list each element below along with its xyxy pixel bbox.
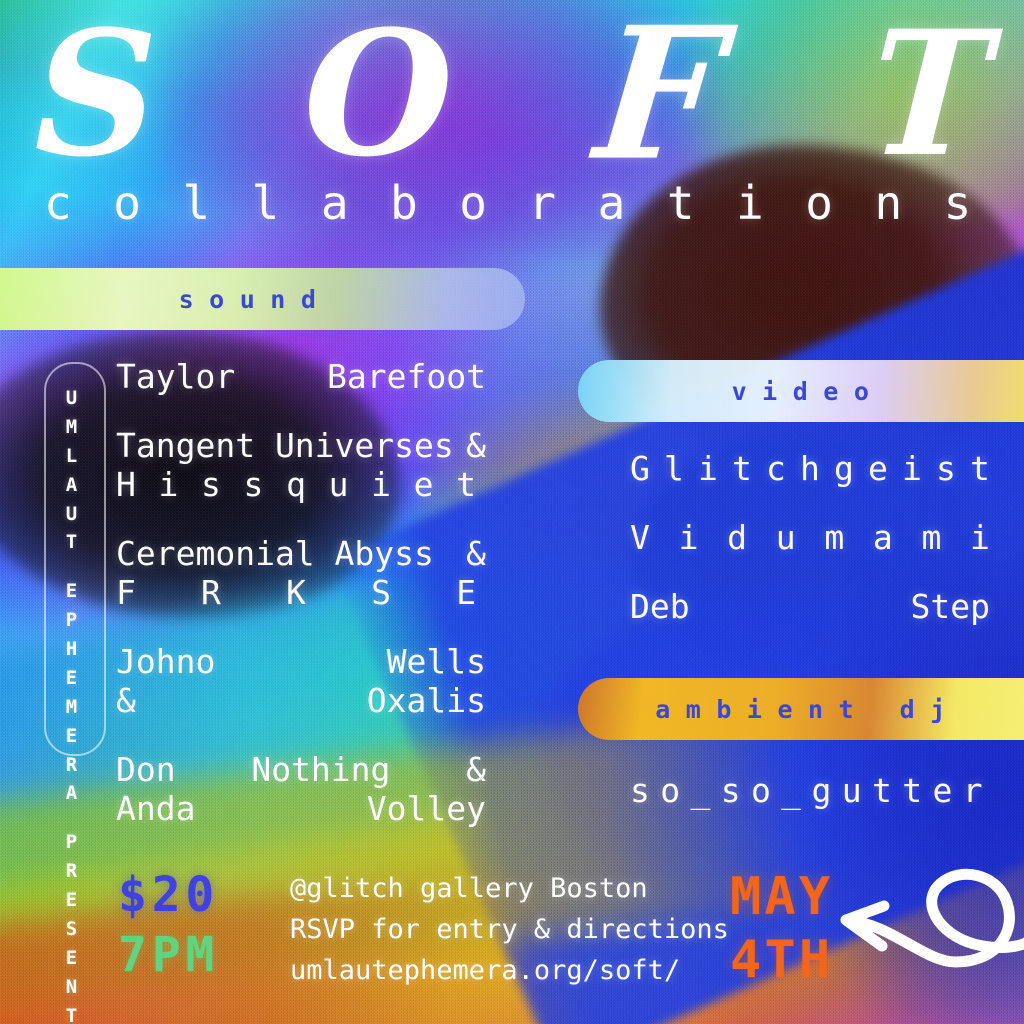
artist-name-letter: s bbox=[244, 466, 274, 505]
artist-line: Glitchgeist bbox=[630, 450, 990, 489]
artist-name-right: & bbox=[466, 751, 486, 790]
artist-name-letter: t bbox=[872, 772, 899, 811]
presenter-letter: N bbox=[66, 973, 80, 1002]
artist-name-letter: t bbox=[456, 466, 486, 505]
artist-name-mid: Nothing bbox=[251, 751, 390, 790]
artist-name-letter: m bbox=[824, 519, 844, 558]
presenter-strip: UMLAUTEPHEMERAPRESENTS bbox=[44, 362, 102, 974]
presenter-letter: A bbox=[66, 779, 80, 808]
artist-name-letter: e bbox=[414, 466, 444, 505]
presenter-letter: T bbox=[66, 1002, 80, 1024]
subtitle-letter: c bbox=[44, 176, 88, 230]
artist-row: TaylorBarefoot bbox=[116, 358, 486, 397]
presenter-letter: E bbox=[66, 886, 80, 915]
presenter-letter-gap bbox=[66, 808, 80, 828]
presenter-letter: P bbox=[66, 828, 80, 857]
artist-name-letter: i bbox=[159, 466, 189, 505]
artist-name-letter: h bbox=[800, 450, 820, 489]
artist-name-letter: _ bbox=[781, 772, 808, 811]
presenter-letter: E bbox=[66, 577, 80, 606]
presenter-letter: T bbox=[66, 528, 80, 557]
artist-name-letter: l bbox=[664, 450, 684, 489]
presenter-letter: E bbox=[66, 722, 80, 751]
artist-name-letter: g bbox=[812, 772, 839, 811]
title-letter-s: S bbox=[34, 8, 158, 180]
subtitle-letter: b bbox=[390, 176, 434, 230]
artist-name-letter: a bbox=[873, 519, 893, 558]
event-poster: S O F T collaborations sound video ambie… bbox=[0, 0, 1024, 1024]
artist-name-right: Wells bbox=[387, 643, 486, 682]
artist-name-letter: i bbox=[679, 519, 699, 558]
artist-name-letter: m bbox=[921, 519, 941, 558]
subtitle-letter: o bbox=[805, 176, 849, 230]
artist-name-letter: o bbox=[660, 772, 687, 811]
presenter-letter: U bbox=[66, 384, 80, 413]
artist-line: DebStep bbox=[630, 588, 990, 627]
subtitle-letter: o bbox=[459, 176, 503, 230]
section-pill-ambient-dj: ambient dj bbox=[578, 678, 1024, 740]
subtitle-letter: t bbox=[667, 176, 711, 230]
artist-name-letter: i bbox=[902, 450, 922, 489]
price-and-time: $20 7PM bbox=[118, 866, 219, 985]
presenter-letter: E bbox=[66, 664, 80, 693]
artist-name-right: & bbox=[466, 535, 486, 574]
artist-name-letter: o bbox=[751, 772, 778, 811]
artist-name-letter: E bbox=[456, 574, 486, 613]
artist-name-letter: s bbox=[936, 450, 956, 489]
presenter-letter: M bbox=[66, 413, 80, 442]
artist-line: DonNothing& bbox=[116, 751, 486, 790]
artist-name-letter: u bbox=[842, 772, 869, 811]
artist-name-right: Oxalis bbox=[367, 682, 486, 721]
presenter-text: UMLAUTEPHEMERAPRESENTS bbox=[66, 362, 80, 1024]
artist-name-letter: e bbox=[868, 450, 888, 489]
artist-name-letter: s bbox=[630, 772, 657, 811]
artist-name-left: Johno bbox=[116, 643, 215, 682]
subtitle-letter: l bbox=[252, 176, 296, 230]
artist-row: Tangent Universes&Hissquiet bbox=[116, 427, 486, 505]
presenter-letter: E bbox=[66, 944, 80, 973]
artist-line: Tangent Universes& bbox=[116, 427, 486, 466]
artist-row: DebStep bbox=[630, 588, 990, 627]
artist-name-right: Step bbox=[911, 588, 990, 627]
artist-name-left: & bbox=[116, 682, 136, 721]
sound-artist-list: TaylorBarefootTangent Universes&Hissquie… bbox=[116, 358, 486, 858]
artist-name-letter: t bbox=[970, 450, 990, 489]
presenter-letter: S bbox=[66, 915, 80, 944]
artist-line: Vidumami bbox=[630, 519, 990, 558]
artist-row: so_so_gutter bbox=[630, 772, 990, 811]
artist-name-right: & bbox=[466, 427, 486, 466]
artist-name-letter: i bbox=[970, 519, 990, 558]
section-pill-ambient-dj-label: ambient dj bbox=[578, 695, 1024, 724]
event-date-month: MAY bbox=[730, 866, 833, 929]
artist-row: Ceremonial Abyss&FRKSE bbox=[116, 535, 486, 613]
artist-line: TaylorBarefoot bbox=[116, 358, 486, 397]
artist-name-right: Volley bbox=[367, 790, 486, 829]
video-artist-list: GlitchgeistVidumamiDebStep bbox=[630, 450, 990, 657]
subtitle-letter: n bbox=[874, 176, 918, 230]
artist-name-letter: S bbox=[371, 574, 401, 613]
poster-title: S O F T bbox=[34, 8, 994, 180]
artist-name-letter: i bbox=[698, 450, 718, 489]
section-pill-sound: sound bbox=[0, 268, 525, 330]
artist-name-letter: H bbox=[116, 466, 146, 505]
presenter-letter-gap bbox=[66, 557, 80, 577]
artist-row: JohnoWells&Oxalis bbox=[116, 643, 486, 721]
venue-info: @glitch gallery Boston RSVP for entry & … bbox=[290, 868, 729, 991]
artist-row: Vidumami bbox=[630, 519, 990, 558]
artist-name-left: Tangent Universes bbox=[116, 427, 454, 466]
title-letter-f: F bbox=[589, 3, 730, 185]
artist-name-letter: R bbox=[201, 574, 231, 613]
artist-name-letter: V bbox=[630, 519, 650, 558]
artist-name-letter: u bbox=[776, 519, 796, 558]
presenter-letter: L bbox=[66, 442, 80, 471]
venue-name: @glitch gallery Boston bbox=[290, 868, 729, 909]
artist-name-left: Ceremonial Abyss bbox=[116, 535, 434, 574]
poster-subtitle: collaborations bbox=[44, 176, 988, 230]
section-pill-sound-label: sound bbox=[0, 285, 525, 314]
artist-name-letter: _ bbox=[691, 772, 718, 811]
artist-name-letter: e bbox=[933, 772, 960, 811]
presenter-letter: H bbox=[66, 635, 80, 664]
artist-name-letter: g bbox=[834, 450, 854, 489]
artist-name-letter: d bbox=[727, 519, 747, 558]
ambient-dj-artist-list: so_so_gutter bbox=[630, 772, 990, 841]
artist-line: Hissquiet bbox=[116, 466, 486, 505]
presenter-letter: M bbox=[66, 693, 80, 722]
presenter-letter: R bbox=[66, 857, 80, 886]
event-date: MAY 4TH bbox=[730, 866, 833, 993]
title-letter-t: T bbox=[865, 8, 995, 180]
artist-name-left: Deb bbox=[630, 588, 690, 627]
artist-name-left: Don bbox=[116, 751, 176, 790]
artist-name-letter: s bbox=[201, 466, 231, 505]
subtitle-letter: r bbox=[528, 176, 572, 230]
ticket-price: $20 bbox=[118, 866, 219, 926]
looping-arrow-icon bbox=[832, 858, 1024, 1008]
section-pill-video: video bbox=[578, 360, 1024, 422]
artist-name-left: Anda bbox=[116, 790, 195, 829]
event-url[interactable]: umlautephemera.org/soft/ bbox=[290, 950, 729, 991]
artist-name-letter: t bbox=[732, 450, 752, 489]
subtitle-letter: i bbox=[736, 176, 780, 230]
start-time: 7PM bbox=[118, 926, 219, 986]
artist-name-letter: i bbox=[371, 466, 401, 505]
presenter-letter: A bbox=[66, 471, 80, 500]
artist-name-letter: r bbox=[963, 772, 990, 811]
subtitle-letter: l bbox=[182, 176, 226, 230]
presenter-letter: R bbox=[66, 751, 80, 780]
section-pill-video-label: video bbox=[578, 377, 1024, 406]
subtitle-letter: a bbox=[321, 176, 365, 230]
artist-name-letter: u bbox=[329, 466, 359, 505]
artist-line: &Oxalis bbox=[116, 682, 486, 721]
artist-name-letter: G bbox=[630, 450, 650, 489]
artist-line: Ceremonial Abyss& bbox=[116, 535, 486, 574]
artist-line: so_so_gutter bbox=[630, 772, 990, 811]
artist-row: DonNothing&AndaVolley bbox=[116, 751, 486, 829]
artist-name-letter: F bbox=[116, 574, 146, 613]
artist-line: JohnoWells bbox=[116, 643, 486, 682]
artist-name-letter: K bbox=[286, 574, 316, 613]
title-letter-o: O bbox=[303, 8, 453, 180]
rsvp-note: RSVP for entry & directions bbox=[290, 909, 729, 950]
event-date-day: 4TH bbox=[730, 929, 833, 992]
artist-name-right: Barefoot bbox=[327, 358, 486, 397]
artist-name-left: Taylor bbox=[116, 358, 235, 397]
artist-line: FRKSE bbox=[116, 574, 486, 613]
artist-name-letter: s bbox=[721, 772, 748, 811]
artist-name-letter: c bbox=[766, 450, 786, 489]
artist-row: Glitchgeist bbox=[630, 450, 990, 489]
subtitle-letter: s bbox=[944, 176, 988, 230]
subtitle-letter: a bbox=[598, 176, 642, 230]
artist-name-letter: q bbox=[286, 466, 316, 505]
presenter-letter: U bbox=[66, 500, 80, 529]
presenter-letter: P bbox=[66, 606, 80, 635]
artist-name-letter: t bbox=[902, 772, 929, 811]
subtitle-letter: o bbox=[113, 176, 157, 230]
artist-line: AndaVolley bbox=[116, 790, 486, 829]
